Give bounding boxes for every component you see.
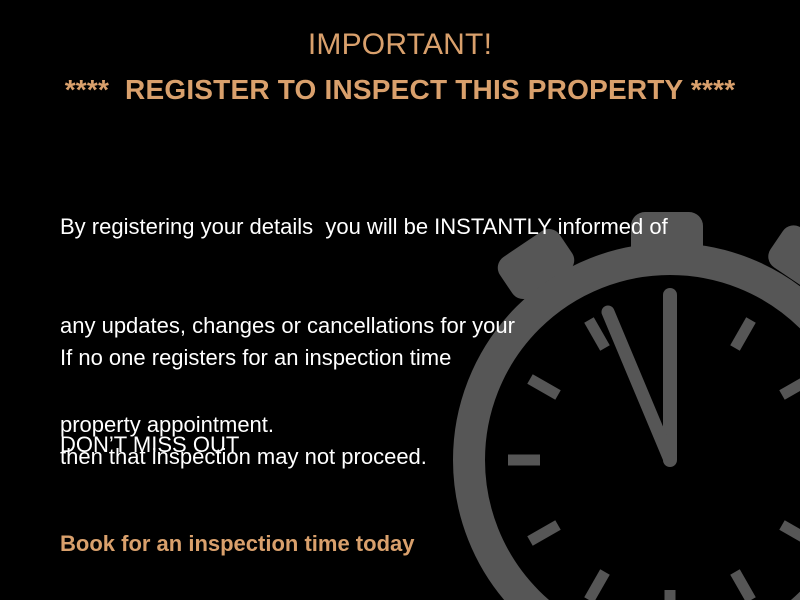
headline-important: IMPORTANT! <box>0 28 800 63</box>
paragraph-closing: DON’T MISS OUT Book for an inspection ti… <box>60 362 414 600</box>
closing-book-inspection: Book for an inspection time today <box>60 527 414 560</box>
slide-text-layer: IMPORTANT! **** REGISTER TO INSPECT THIS… <box>0 0 800 600</box>
closing-dont-miss-out: DON’T MISS OUT <box>60 428 414 461</box>
headline-register-to-inspect: **** REGISTER TO INSPECT THIS PROPERTY *… <box>0 74 800 106</box>
promotional-slide: IMPORTANT! **** REGISTER TO INSPECT THIS… <box>0 0 800 600</box>
paragraph-registering-line-1: By registering your details you will be … <box>60 210 668 243</box>
